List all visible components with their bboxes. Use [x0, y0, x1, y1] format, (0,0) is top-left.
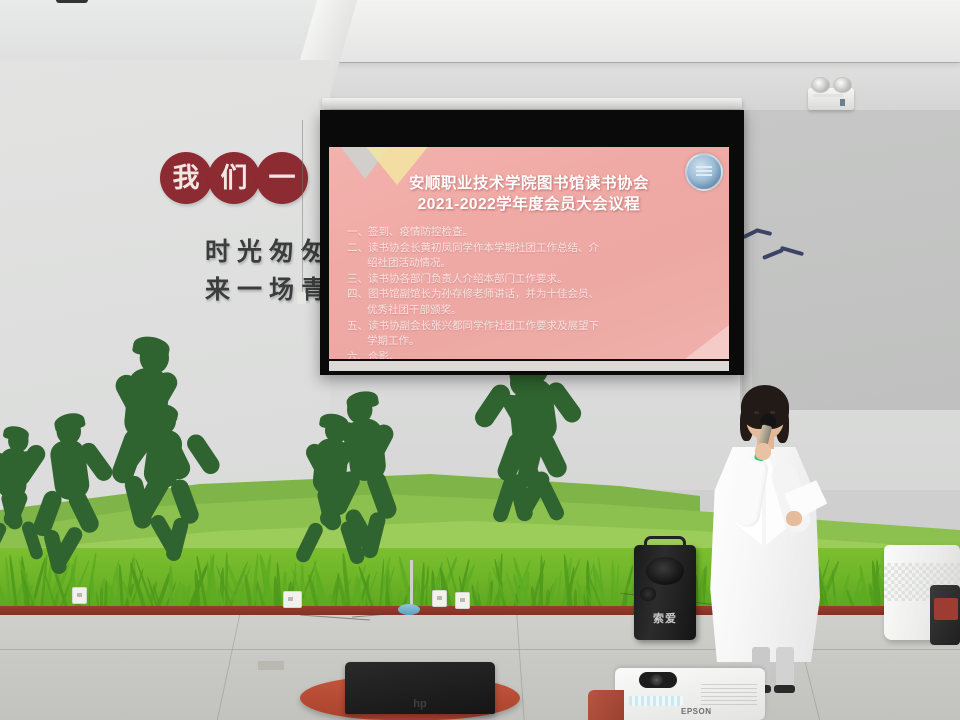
wall-outlet[interactable]	[72, 587, 87, 604]
slide-title: 安顺职业技术学院图书馆读书协会 2021-2022学年度会员大会议程	[329, 173, 729, 215]
right-wall-panel	[740, 110, 960, 410]
eye-left	[754, 411, 759, 414]
slide-agenda-item: 四、图书馆副馆长为孙存修老师讲话，并为十佳会员、	[347, 287, 717, 302]
wall-slogan-line-1: 时光匆匆	[205, 232, 333, 268]
wall-outlet[interactable]	[432, 590, 447, 607]
hand-left	[755, 443, 771, 460]
slide-agenda-body: 一、签到、疫情防控检查。二、读书协会长黄初凤同学作本学期社团工作总结、介绍社团活…	[347, 225, 717, 359]
slide-agenda-item: 学期工作。	[347, 334, 717, 349]
emergency-light-fixture	[808, 88, 854, 110]
wall-slogan-circle-char: 们	[221, 165, 248, 192]
mic-stand-pole	[410, 560, 413, 610]
hand-right	[786, 511, 802, 526]
photo-scene: 我们一 时光匆匆 来一场青 安顺职业技术学院图书馆读书协会 2021-2022学…	[0, 0, 960, 720]
slide-title-line-2: 2021-2022学年度会员大会议程	[329, 194, 729, 215]
wall-slogan-circle: 一	[256, 152, 308, 204]
background-red-object	[934, 598, 958, 620]
wall-slogan-line-2: 来一场青	[205, 270, 333, 306]
presentation-slide: 安顺职业技术学院图书馆读书协会 2021-2022学年度会员大会议程 一、签到、…	[329, 147, 729, 359]
projector-screen: 安顺职业技术学院图书馆读书协会 2021-2022学年度会员大会议程 一、签到、…	[320, 110, 744, 375]
grass-blade	[487, 571, 491, 610]
wall-outlet[interactable]	[283, 591, 302, 608]
wall-slogan-circle-char: 一	[269, 165, 296, 192]
slide-title-line-1: 安顺职业技术学院图书馆读书协会	[329, 173, 729, 194]
slide-agenda-item: 绍社团活动情况。	[347, 256, 717, 271]
grass-blade	[90, 572, 94, 610]
laptop-hinge	[56, 0, 88, 3]
speaker-brand-label: 索爱	[634, 610, 696, 626]
leg-right	[776, 647, 794, 689]
projector: EPSON	[615, 668, 765, 720]
wall-slogan-circle-char: 我	[173, 165, 200, 192]
wall-outlet[interactable]	[455, 592, 470, 609]
laptop-brand-label: hp	[345, 698, 495, 710]
presenter	[700, 385, 830, 685]
projector-brand-label: EPSON	[681, 707, 712, 716]
shoe-right	[774, 685, 795, 693]
speaker-tweeter	[640, 587, 656, 601]
slide-agenda-item: 五、读书协副会长张兴都同学作社团工作要求及展望下	[347, 319, 717, 334]
screen-bottom-bar	[329, 361, 729, 371]
wall-slogan-circles: 我们一	[160, 152, 304, 204]
slide-agenda-item: 一、签到、疫情防控检查。	[347, 225, 717, 240]
screen-cord-knob[interactable]	[297, 292, 306, 304]
wall-slogan-circle: 我	[160, 152, 212, 204]
table-edge-right	[588, 690, 624, 720]
floor-blue-device	[398, 604, 420, 615]
floor-small-object	[258, 661, 284, 670]
screen-roller-housing	[322, 98, 742, 109]
ceiling-soffit	[330, 0, 960, 62]
screen-pull-cord[interactable]	[302, 120, 303, 295]
slide-agenda-item: 优秀社团干部颁奖。	[347, 303, 717, 318]
slide-agenda-item: 二、读书协会长黄初凤同学作本学期社团工作总结、介	[347, 241, 717, 256]
projector-lens	[639, 672, 677, 688]
projector-label-block	[701, 684, 757, 706]
laptop[interactable]: hp	[345, 662, 495, 714]
slide-agenda-item: 六、合影。	[347, 350, 717, 359]
slide-agenda-item: 三、读书协各部门负责人介绍本部门工作要求。	[347, 272, 717, 287]
projector-vent	[629, 696, 683, 706]
grass-blade	[615, 564, 620, 610]
wall-slogan-circle: 们	[208, 152, 260, 204]
speaker-woofer	[646, 557, 684, 585]
pa-speaker: 索爱	[634, 545, 696, 640]
speaker-handle	[644, 536, 686, 551]
